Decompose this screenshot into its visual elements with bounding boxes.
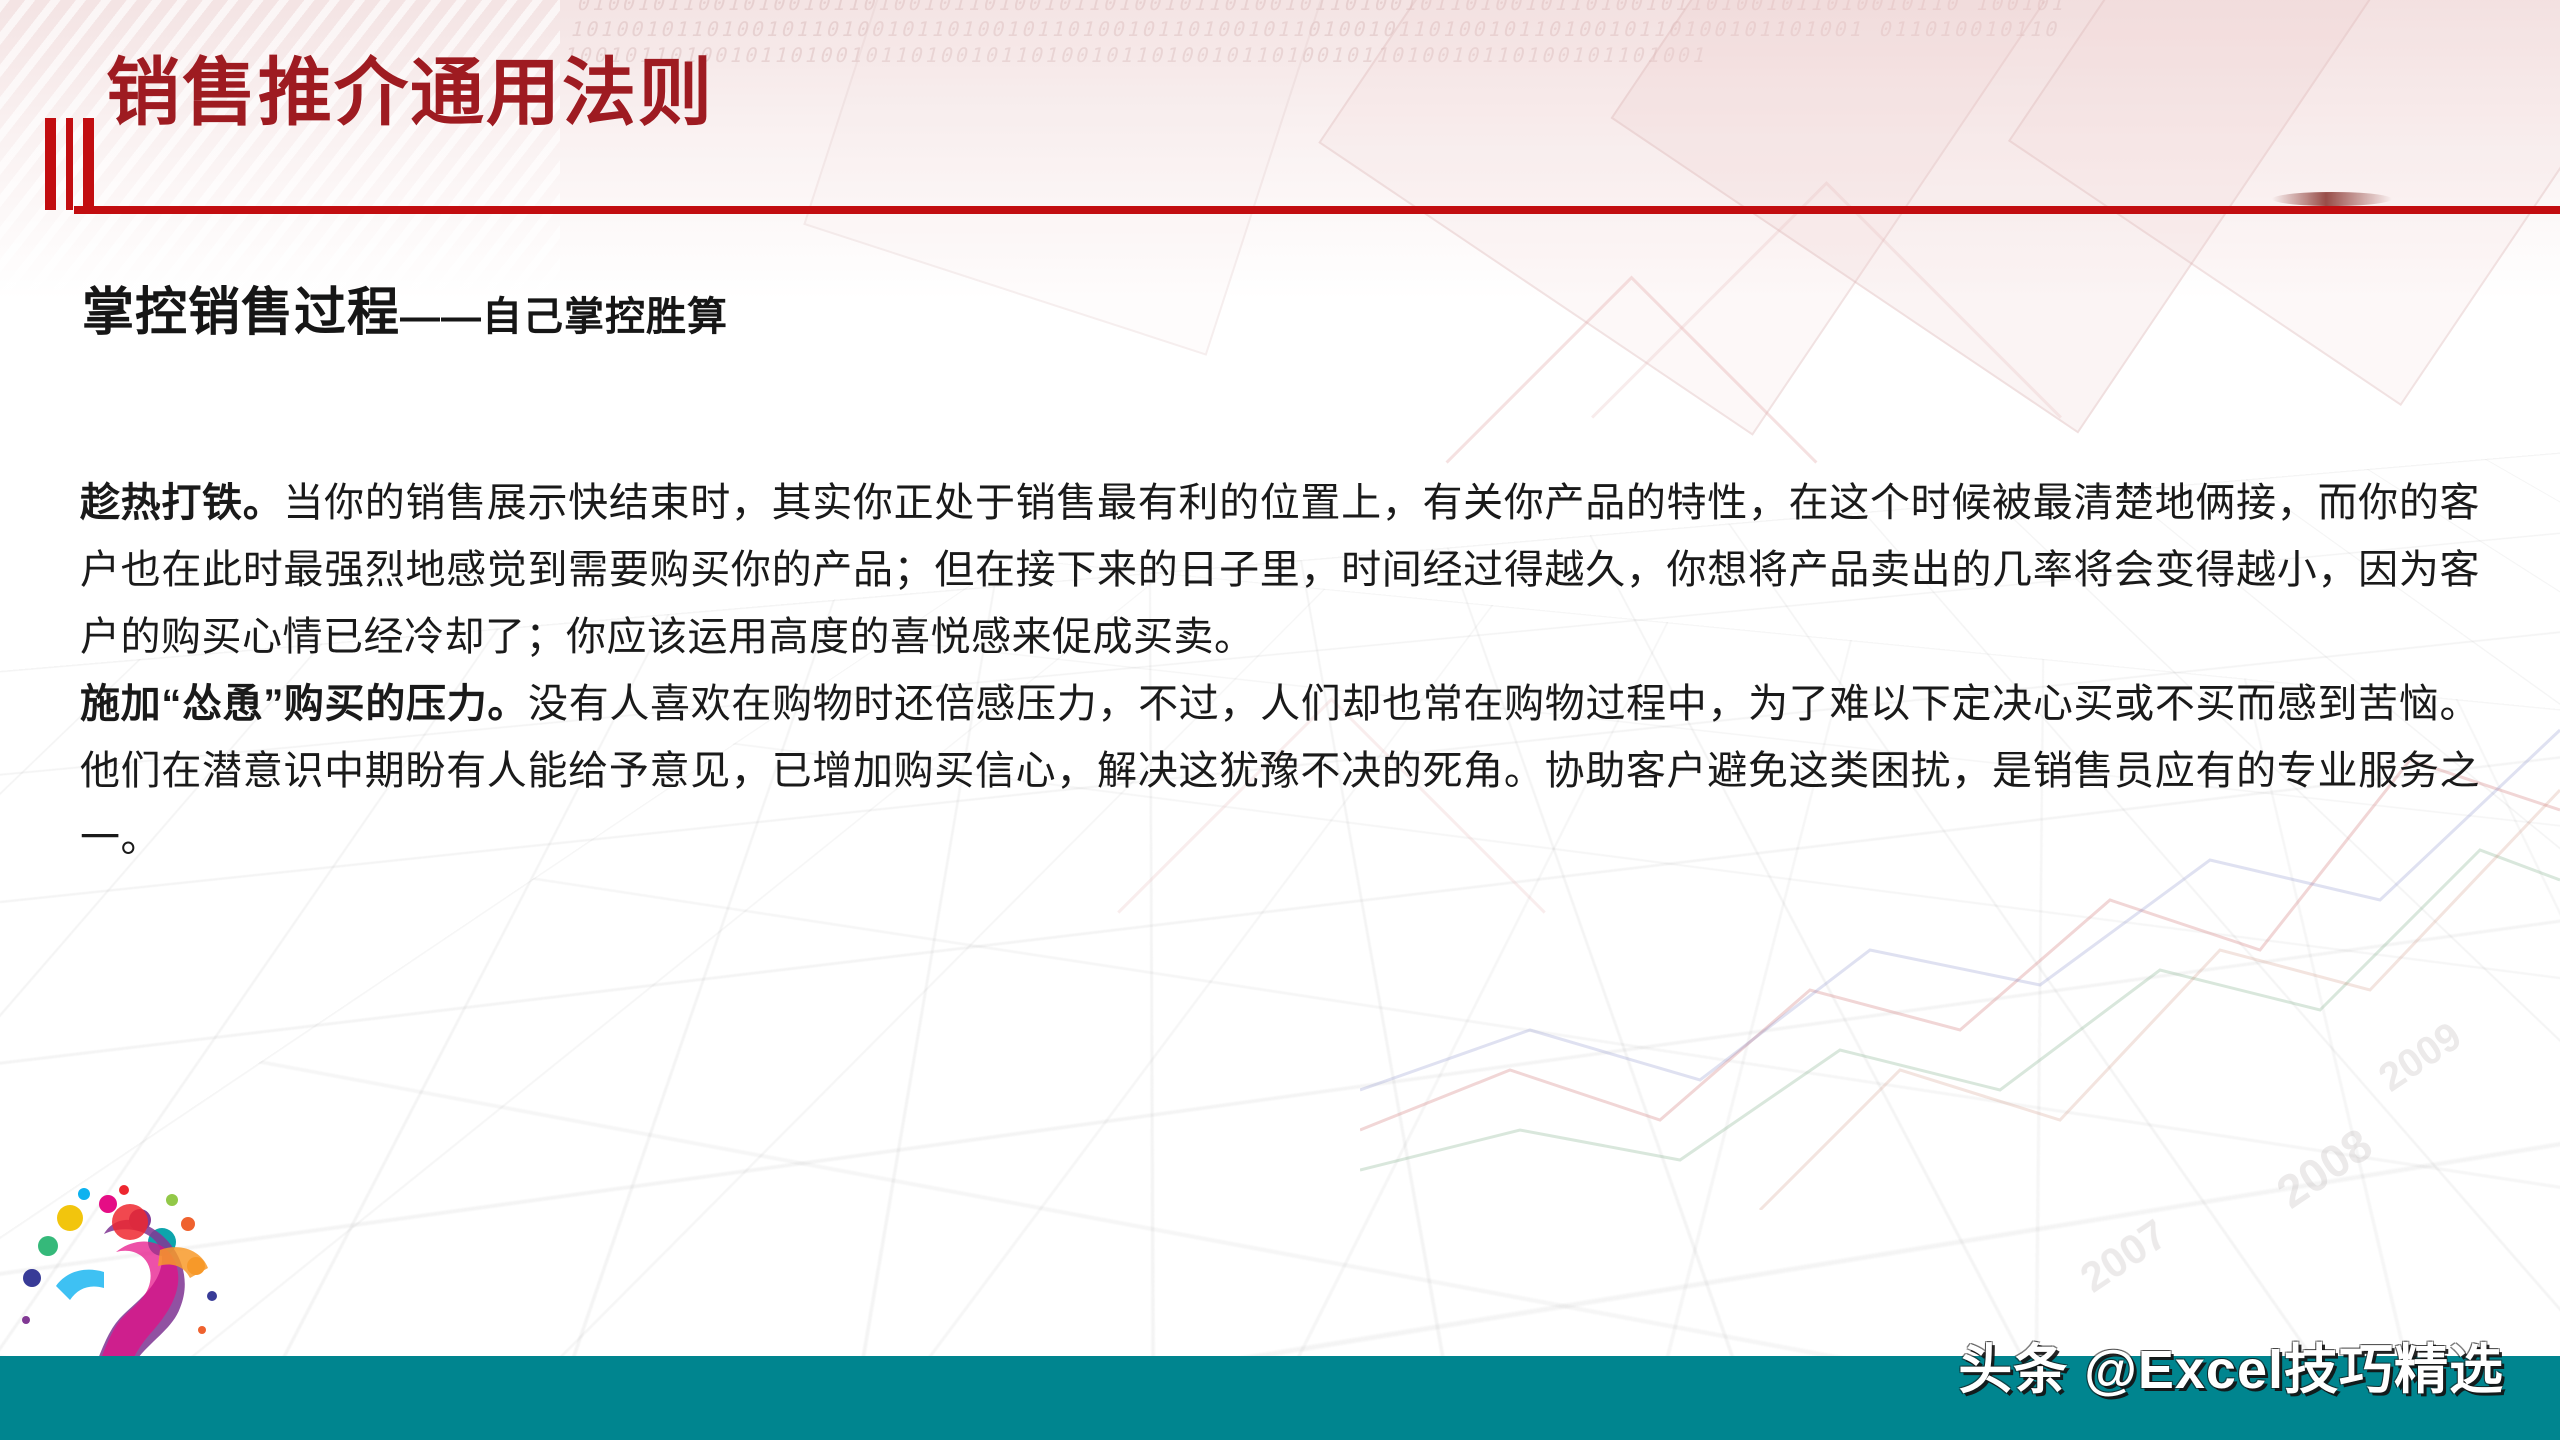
paragraph-text: 当你的销售展示快结束时，其实你正处于销售最有利的位置上，有关你产品的特性，在这个… — [80, 481, 2480, 659]
title-rule-accent — [2272, 192, 2392, 206]
subtitle-tail: ——自己掌控胜算 — [400, 295, 728, 339]
subtitle-lead: 掌控销售过程 — [82, 284, 400, 342]
paragraph-lead: 趁热打铁。 — [80, 481, 283, 525]
accent-bar — [66, 118, 73, 210]
background-year-label: 2008 — [2266, 1117, 2381, 1219]
presentation-slide: 0100101100101001011010010110100101101001… — [0, 0, 2560, 1440]
title-area: 销售推介通用法则 — [0, 30, 2560, 215]
paragraph: 施加“怂恿”购买的压力。没有人喜欢在购物时还倍感压力，不过，人们却也常在购物过程… — [80, 671, 2480, 872]
page-title: 销售推介通用法则 — [106, 52, 714, 135]
paragraph: 趁热打铁。当你的销售展示快结束时，其实你正处于销售最有利的位置上，有关你产品的特… — [80, 470, 2480, 671]
body-content: 趁热打铁。当你的销售展示快结束时，其实你正处于销售最有利的位置上，有关你产品的特… — [80, 470, 2480, 872]
accent-bar — [83, 118, 94, 210]
accent-bar — [45, 118, 56, 210]
title-underline-rule — [74, 206, 2560, 214]
section-subtitle: 掌控销售过程——自己掌控胜算 — [82, 270, 728, 345]
background-year-label: 2007 — [2071, 1210, 2175, 1302]
paragraph-lead: 施加“怂恿”购买的压力。 — [80, 682, 528, 726]
title-accent-bars — [45, 118, 94, 210]
watermark-text: 头条 @Excel技巧精选 — [1958, 1325, 2504, 1404]
background-year-label: 2009 — [2371, 1014, 2470, 1101]
